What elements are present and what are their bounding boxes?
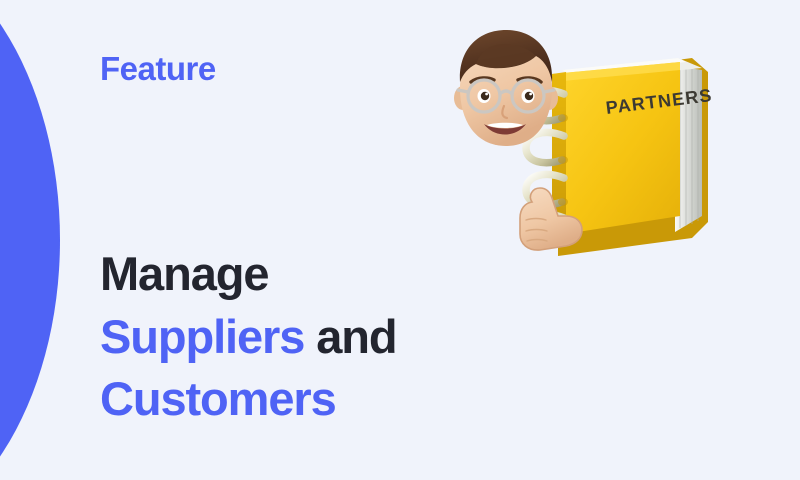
- headline-word-manage: Manage: [100, 247, 268, 300]
- headline-word-suppliers: Suppliers: [100, 310, 304, 363]
- headline-line-3: Customers: [100, 368, 396, 431]
- headline-line-1: Manage: [100, 243, 396, 306]
- avatar-eye-glint-right: [529, 93, 532, 96]
- headline-line-2: Suppliers and: [100, 306, 396, 369]
- headline-word-customers: Customers: [100, 372, 336, 425]
- headline-word-and: and: [304, 310, 396, 363]
- page-title: Manage Suppliers and Customers: [100, 243, 396, 431]
- background-arc-decoration: [0, 0, 60, 480]
- eyebrow-label: Feature: [100, 52, 216, 85]
- notebook-front-cover: [552, 62, 680, 236]
- banner-content: Feature Manage Suppliers and Customers: [100, 0, 520, 480]
- avatar-pupil-right: [525, 92, 533, 100]
